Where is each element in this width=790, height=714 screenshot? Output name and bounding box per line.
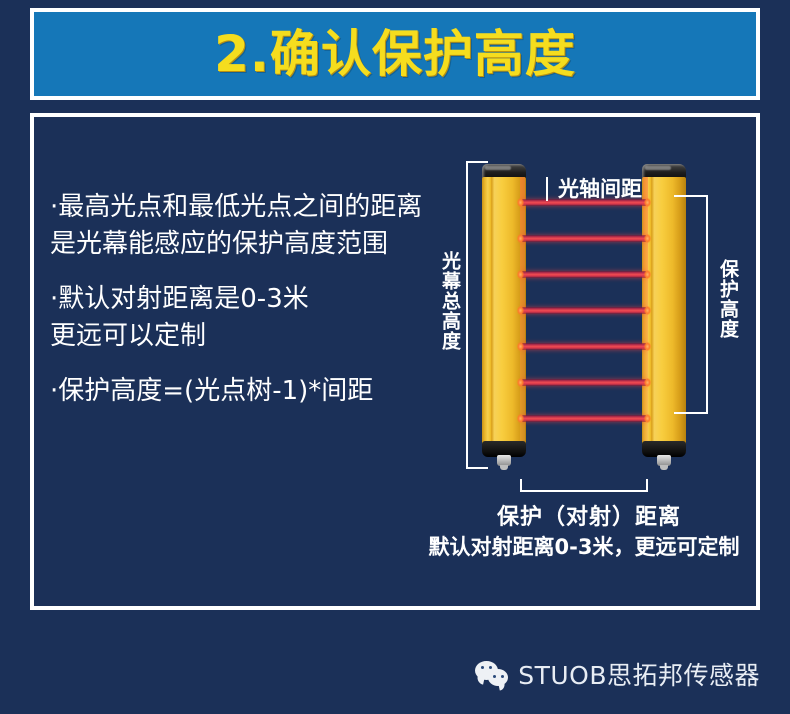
bullet-1-line-2: 是光幕能感应的保护高度范围 [50,226,450,263]
total-height-leader-top [466,161,488,163]
protect-height-bracket [686,195,708,414]
beam-pitch-label: 光轴间距 [546,177,642,201]
post-connector-plug [657,455,671,466]
light-curtain-diagram: 光轴间距 光幕总高度 保护高度 保护（对射）距离 默认对射距离0-3米，更远可定… [424,147,754,607]
bullet-item-1: ·最高光点和最低光点之间的距离 是光幕能感应的保护高度范围 [50,189,450,263]
distance-note: 默认对射距离0-3米，更远可定制 [384,531,760,561]
bullet-2-line-2: 更远可以定制 [50,318,450,355]
emitter-window-strip [520,177,525,453]
light-beam [522,415,646,422]
light-beam [522,271,646,278]
bullet-2-line-1: ·默认对射距离是0-3米 [50,281,450,318]
total-height-bracket [466,161,486,469]
distance-caption: 保护（对射）距离 [424,499,754,531]
content-panel: ·最高光点和最低光点之间的距离 是光幕能感应的保护高度范围 ·默认对射距离是0-… [30,113,760,610]
footer-brand: STUOB思拓邦传感器 [475,656,760,692]
light-beam [522,343,646,350]
wechat-bubble-front [488,669,508,686]
light-beam [522,307,646,314]
receiver-window-strip [643,177,648,453]
post-connector-plug [497,455,511,466]
total-height-label: 光幕总高度 [438,251,460,351]
protect-height-leader-top [674,195,708,197]
bullet-1-line-1: ·最高光点和最低光点之间的距离 [50,189,450,226]
protect-height-leader-bottom [674,412,708,414]
header-banner: 2.确认保护高度 [30,8,760,100]
light-beam [522,379,646,386]
brand-name: STUOB思拓邦传感器 [518,656,760,692]
protect-height-label: 保护高度 [716,259,738,339]
wechat-icon [475,660,509,688]
page-title: 2.确认保护高度 [214,29,576,79]
light-beam [522,235,646,242]
bullet-item-2: ·默认对射距离是0-3米 更远可以定制 [50,281,450,355]
bullet-3-line-1: ·保护高度=(光点树-1)*间距 [50,373,450,410]
total-height-leader-bottom [466,467,488,469]
distance-bracket [520,479,648,492]
bullet-item-3: ·保护高度=(光点树-1)*间距 [50,373,450,410]
bullet-list: ·最高光点和最低光点之间的距离 是光幕能感应的保护高度范围 ·默认对射距离是0-… [50,189,450,428]
poster-root: 2.确认保护高度 ·最高光点和最低光点之间的距离 是光幕能感应的保护高度范围 ·… [0,0,790,714]
